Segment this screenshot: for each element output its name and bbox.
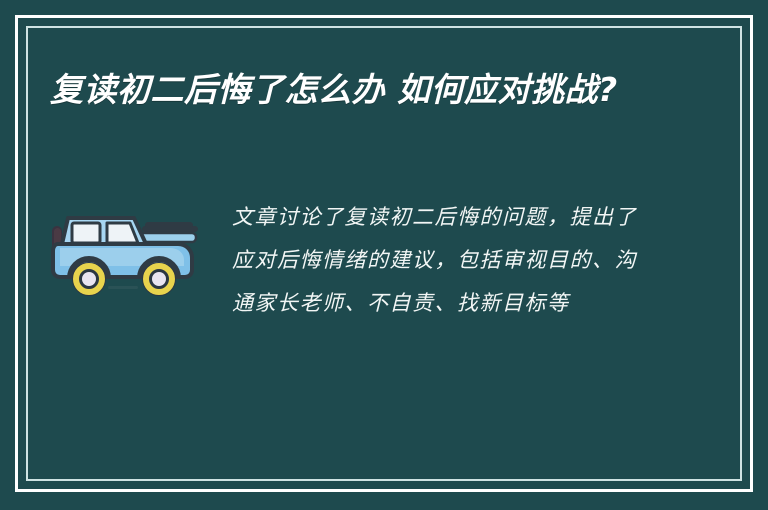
- article-summary-text: 文章讨论了复读初二后悔的问题，提出了应对后悔情绪的建议，包括审视目的、沟通家长老…: [232, 196, 652, 325]
- content-row: 文章讨论了复读初二后悔的问题，提出了应对后悔情绪的建议，包括审视目的、沟通家长老…: [50, 196, 708, 325]
- page-title: 复读初二后悔了怎么办 如何应对挑战?: [50, 62, 690, 118]
- article-cover-card: 复读初二后悔了怎么办 如何应对挑战?: [0, 0, 768, 510]
- jeep-vehicle-icon: [50, 200, 200, 300]
